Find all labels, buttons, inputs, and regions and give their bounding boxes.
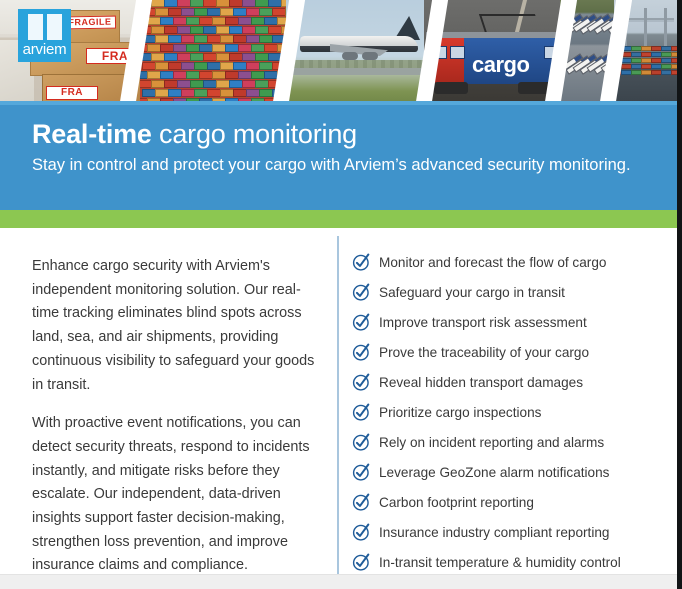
benefits-list: Monitor and forecast the flow of cargoSa…: [352, 248, 672, 578]
check-circle-icon: [352, 403, 371, 422]
page-edge-right: [677, 0, 682, 589]
logo-mark-left-bar: [28, 14, 43, 40]
description-column: Enhance cargo security with Arviem's ind…: [32, 255, 326, 578]
benefit-label: Monitor and forecast the flow of cargo: [379, 255, 606, 271]
fragile-label: FRAGILE: [64, 16, 116, 30]
benefit-label: Insurance industry compliant reporting: [379, 525, 609, 541]
benefit-item: Prove the traceability of your cargo: [352, 338, 672, 368]
content-area: Enhance cargo security with Arviem's ind…: [0, 228, 682, 574]
green-accent-bar: [0, 210, 682, 228]
benefit-label: Prove the traceability of your cargo: [379, 345, 589, 361]
benefit-item: Improve transport risk assessment: [352, 308, 672, 338]
benefit-item: Leverage GeoZone alarm notifications: [352, 458, 672, 488]
benefit-label: Carbon footprint reporting: [379, 495, 534, 511]
check-circle-icon: [352, 433, 371, 452]
check-circle-icon: [352, 463, 371, 482]
benefit-label: Rely on incident reporting and alarms: [379, 435, 604, 451]
check-circle-icon: [352, 253, 371, 272]
arviem-logo[interactable]: arviem: [18, 9, 71, 62]
check-circle-icon: [352, 373, 371, 392]
photo-cargo-airplane: [286, 0, 436, 101]
benefit-label: Safeguard your cargo in transit: [379, 285, 565, 301]
benefit-item: Monitor and forecast the flow of cargo: [352, 248, 672, 278]
benefit-item: Carbon footprint reporting: [352, 488, 672, 518]
hero-banner: Real-time cargo monitoring Stay in contr…: [0, 105, 682, 210]
check-circle-icon: [352, 553, 371, 572]
benefit-label: Prioritize cargo inspections: [379, 405, 541, 421]
check-circle-icon: [352, 493, 371, 512]
fragile-label: FRA: [46, 86, 98, 100]
benefit-item: Prioritize cargo inspections: [352, 398, 672, 428]
benefit-label: Reveal hidden transport damages: [379, 375, 583, 391]
description-paragraph: With proactive event notifications, you …: [32, 412, 326, 578]
check-circle-icon: [352, 283, 371, 302]
check-circle-icon: [352, 313, 371, 332]
page-title-bold: Real-time: [32, 119, 152, 149]
page-title-rest: cargo monitoring: [152, 119, 357, 149]
hero-photo-strip: FRAGILE FRA FRA: [0, 0, 682, 101]
check-circle-icon: [352, 523, 371, 542]
benefit-label: Leverage GeoZone alarm notifications: [379, 465, 609, 481]
benefit-item: Rely on incident reporting and alarms: [352, 428, 672, 458]
benefit-item: Reveal hidden transport damages: [352, 368, 672, 398]
benefit-label: In-transit temperature & humidity contro…: [379, 555, 621, 571]
page-subtitle: Stay in control and protect your cargo w…: [32, 153, 672, 178]
page-bottom-band: [0, 574, 682, 589]
photo-container-yard: [140, 0, 298, 101]
benefit-item: Insurance industry compliant reporting: [352, 518, 672, 548]
page-title: Real-time cargo monitoring: [32, 118, 357, 150]
brochure-page: FRAGILE FRA FRA: [0, 0, 682, 589]
description-paragraph: Enhance cargo security with Arviem's ind…: [32, 255, 326, 397]
logo-mark-right-bar: [47, 14, 62, 40]
benefit-item: Safeguard your cargo in transit: [352, 278, 672, 308]
benefit-label: Improve transport risk assessment: [379, 315, 587, 331]
column-divider: [337, 236, 339, 581]
check-circle-icon: [352, 343, 371, 362]
logo-wordmark: arviem: [18, 41, 71, 58]
banner-top-edge: [0, 101, 682, 105]
cargo-wordmark: cargo: [472, 54, 529, 76]
